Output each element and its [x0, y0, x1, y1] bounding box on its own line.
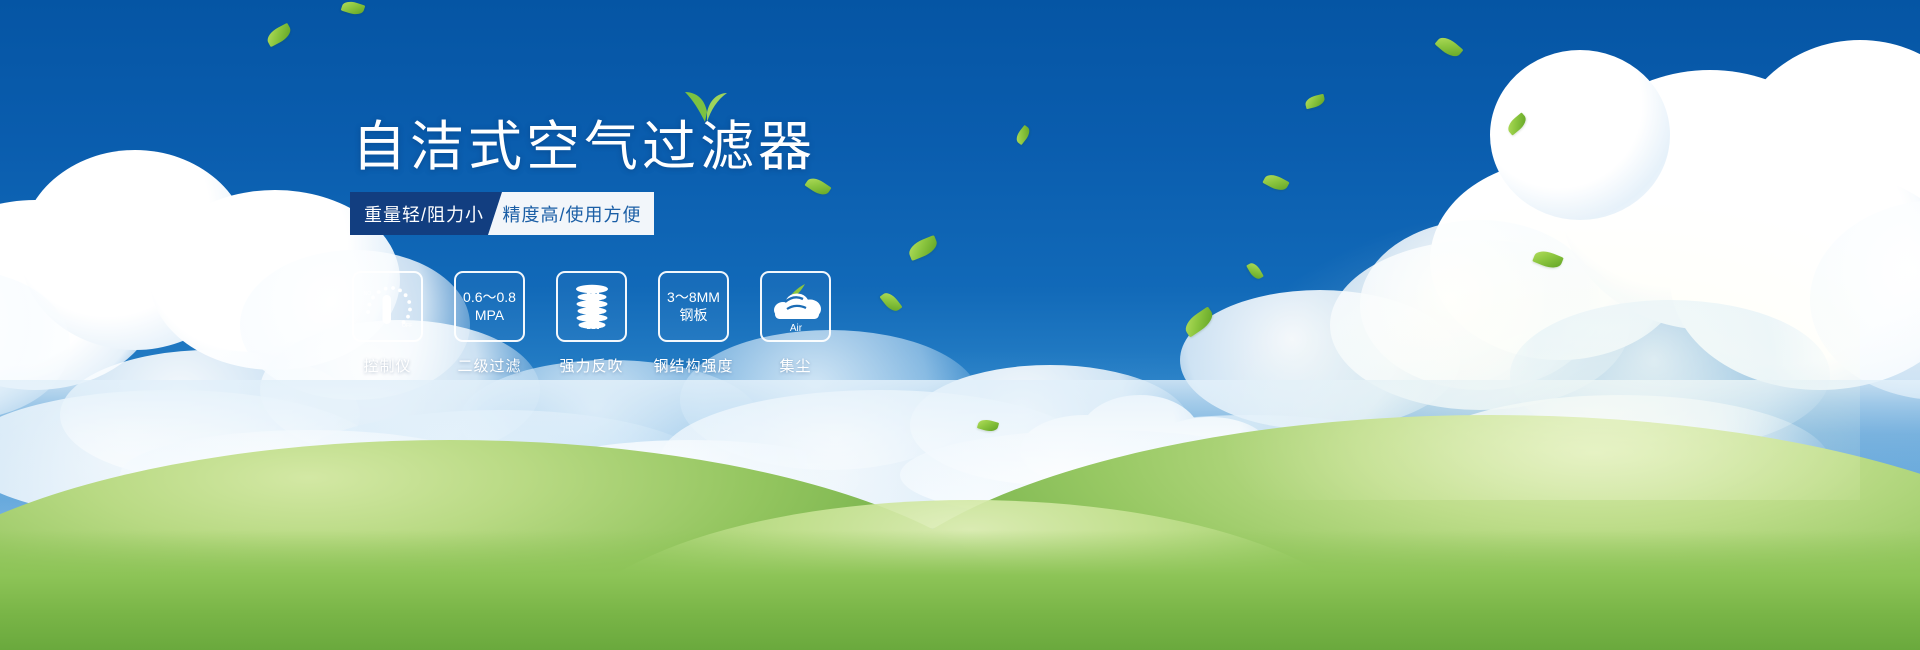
product-hero-banner: 自洁式空气过滤器 重量轻/阻力小 精度高/使用方便	[0, 0, 1920, 650]
feature-tab-group: 重量轻/阻力小 精度高/使用方便	[350, 192, 654, 235]
steel-thickness: 3～8MM	[667, 289, 720, 306]
pressure-text-icon: 0.6～0.8 MPA	[463, 289, 516, 323]
air-label: Air	[789, 323, 802, 334]
feature-item-steel-structure-strength[interactable]: 3～8MM 钢板 钢结构强度	[658, 271, 729, 376]
tab-label: 精度高/使用方便	[503, 201, 642, 227]
feature-icon-box: Air	[760, 271, 831, 342]
feature-caption: 二级过滤	[457, 355, 521, 376]
page-title: 自洁式空气过滤器	[352, 120, 816, 174]
feature-caption: 集尘	[779, 355, 811, 376]
filter-cartridge-icon	[568, 281, 616, 333]
gauge-label-off: OFF	[402, 323, 412, 329]
tab-lightweight-low-resistance[interactable]: 重量轻/阻力小	[350, 192, 502, 235]
cloud-air-icon: Air	[767, 280, 825, 334]
feature-icon-row: NO OFF 控制仪 0.6～0.8 MPA 二级过滤	[352, 271, 831, 376]
feature-caption: 钢结构强度	[654, 355, 734, 376]
feature-item-controller[interactable]: NO OFF 控制仪	[352, 271, 423, 376]
feature-icon-box: 3～8MM 钢板	[658, 271, 729, 342]
feature-caption: 强力反吹	[559, 355, 623, 376]
feature-icon-box	[556, 271, 627, 342]
pressure-range: 0.6～0.8	[463, 289, 516, 306]
tab-label: 重量轻/阻力小	[364, 201, 484, 227]
gauge-dial-icon: NO OFF	[361, 282, 415, 332]
feature-icon-box: NO OFF	[352, 271, 423, 342]
pressure-unit: MPA	[463, 307, 516, 324]
feature-item-dust-collection[interactable]: Air 集尘	[760, 271, 831, 376]
feature-item-two-stage-filtration[interactable]: 0.6～0.8 MPA 二级过滤	[454, 271, 525, 376]
feature-icon-box: 0.6～0.8 MPA	[454, 271, 525, 342]
gauge-label-no: NO	[363, 291, 371, 297]
steel-plate-text-icon: 3～8MM 钢板	[667, 289, 720, 323]
tab-high-precision-easy-use[interactable]: 精度高/使用方便	[488, 192, 654, 235]
steel-material: 钢板	[667, 307, 720, 324]
feature-caption: 控制仪	[363, 355, 411, 376]
banner-content: 自洁式空气过滤器 重量轻/阻力小 精度高/使用方便	[0, 0, 1920, 650]
feature-item-strong-backblow[interactable]: 强力反吹	[556, 271, 627, 376]
